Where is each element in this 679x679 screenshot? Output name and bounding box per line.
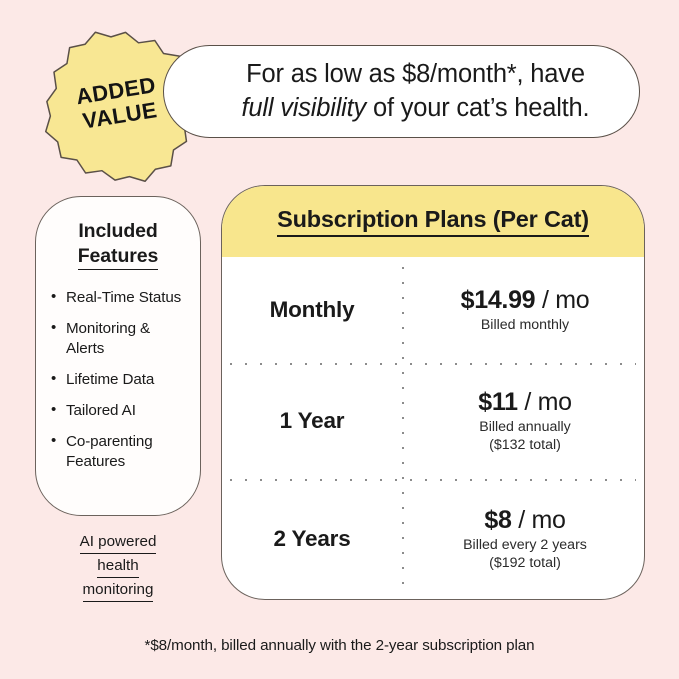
bullet-icon: •: [51, 369, 56, 389]
plans-header-title: Subscription Plans (Per Cat): [277, 206, 589, 237]
plan-amount: $8: [484, 506, 511, 534]
caption-line-1: AI powered: [80, 530, 157, 554]
plan-price-cell: $11 / mo Billed annually ($132 total): [402, 388, 644, 455]
plan-name: 2 Years: [222, 526, 402, 552]
headline-line-2: full visibility of your cat’s health.: [242, 92, 590, 126]
plan-note: Billed annually ($132 total): [406, 419, 644, 455]
bullet-icon: •: [51, 318, 56, 338]
features-title: Included Features: [50, 219, 186, 270]
list-item: •Tailored AI: [50, 401, 186, 421]
plan-name: 1 Year: [222, 408, 402, 434]
list-item: •Real-Time Status: [50, 288, 186, 308]
plan-price-cell: $8 / mo Billed every 2 years ($192 total…: [402, 506, 644, 573]
plans-body: Monthly $14.99 / mo Billed monthly 1 Yea…: [222, 257, 644, 599]
ai-health-monitoring-caption: AI powered health monitoring: [35, 530, 201, 602]
bullet-icon: •: [51, 287, 56, 307]
plan-price: $11 / mo: [406, 388, 644, 417]
plan-amount: $11: [478, 388, 517, 416]
plan-note-line-1: Billed monthly: [406, 317, 644, 335]
list-item: •Monitoring & Alerts: [50, 319, 186, 359]
bullet-icon: •: [51, 431, 56, 451]
plan-name: Monthly: [222, 297, 402, 323]
feature-label: Monitoring & Alerts: [66, 320, 150, 357]
headline-text: For as low as $8/month*, have full visib…: [204, 58, 600, 126]
plans-header: Subscription Plans (Per Cat): [222, 186, 644, 257]
plan-note-line-2: ($132 total): [406, 437, 644, 455]
headline-emphasis: full visibility: [242, 94, 367, 122]
table-row: 2 Years $8 / mo Billed every 2 years ($1…: [222, 479, 644, 599]
poster-canvas: ADDED VALUE For as low as $8/month*, hav…: [0, 0, 679, 679]
plan-note-line-2: ($192 total): [406, 555, 644, 573]
headline-banner: For as low as $8/month*, have full visib…: [163, 45, 640, 138]
table-row: 1 Year $11 / mo Billed annually ($132 to…: [222, 363, 644, 479]
feature-label: Tailored AI: [66, 402, 136, 419]
plan-note-line-1: Billed every 2 years: [406, 537, 644, 555]
included-features-card: Included Features •Real-Time Status •Mon…: [35, 196, 201, 516]
list-item: •Lifetime Data: [50, 370, 186, 390]
feature-label: Co-parenting Features: [66, 433, 153, 470]
bullet-icon: •: [51, 400, 56, 420]
plan-price: $14.99 / mo: [406, 286, 644, 315]
table-row: Monthly $14.99 / mo Billed monthly: [222, 257, 644, 363]
plan-price-cell: $14.99 / mo Billed monthly: [402, 286, 644, 335]
plan-period: / mo: [512, 506, 566, 534]
features-title-line-2: Features: [78, 244, 159, 271]
feature-label: Real-Time Status: [66, 289, 181, 306]
plan-period: / mo: [535, 286, 589, 314]
headline-line-1: For as low as $8/month*, have: [242, 58, 590, 92]
features-title-line-1: Included: [50, 219, 186, 244]
plan-price: $8 / mo: [406, 506, 644, 535]
plan-note-line-1: Billed annually: [406, 419, 644, 437]
feature-label: Lifetime Data: [66, 371, 154, 388]
plan-period: / mo: [518, 388, 572, 416]
plan-note: Billed monthly: [406, 317, 644, 335]
list-item: •Co-parenting Features: [50, 432, 186, 472]
caption-line-2: health: [97, 554, 138, 578]
plan-note: Billed every 2 years ($192 total): [406, 537, 644, 573]
features-list: •Real-Time Status •Monitoring & Alerts •…: [50, 288, 186, 471]
caption-line-3: monitoring: [83, 578, 154, 602]
footnote: *$8/month, billed annually with the 2-ye…: [0, 637, 679, 654]
headline-line-2-rest: of your cat’s health.: [366, 94, 589, 122]
subscription-plans-card: Subscription Plans (Per Cat) Monthly $14…: [221, 185, 645, 600]
plan-amount: $14.99: [461, 286, 536, 314]
